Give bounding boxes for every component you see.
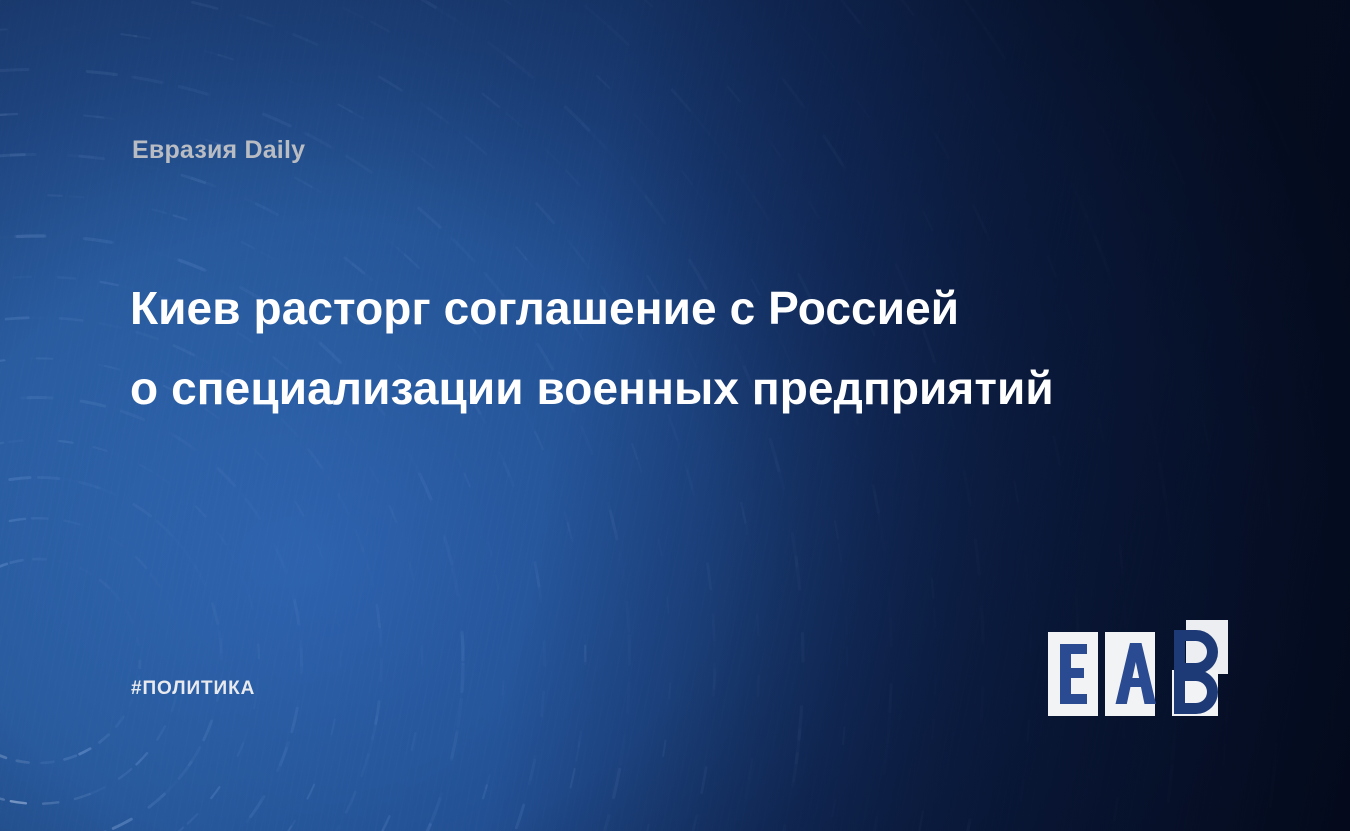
category-tag[interactable]: #ПОЛИТИКА (131, 678, 255, 700)
headline-line-2: о специализации военных предприятий (130, 348, 1250, 428)
brand-name: Евразия Daily (132, 136, 305, 165)
news-card: Евразия Daily Киев расторг соглашение с … (0, 0, 1350, 831)
headline-line-1: Киев расторг соглашение с Россией (130, 268, 1250, 348)
headline: Киев расторг соглашение с Россией о спец… (130, 268, 1250, 428)
logo-letter-e-icon (1060, 644, 1087, 704)
ead-logo[interactable] (1046, 612, 1228, 720)
